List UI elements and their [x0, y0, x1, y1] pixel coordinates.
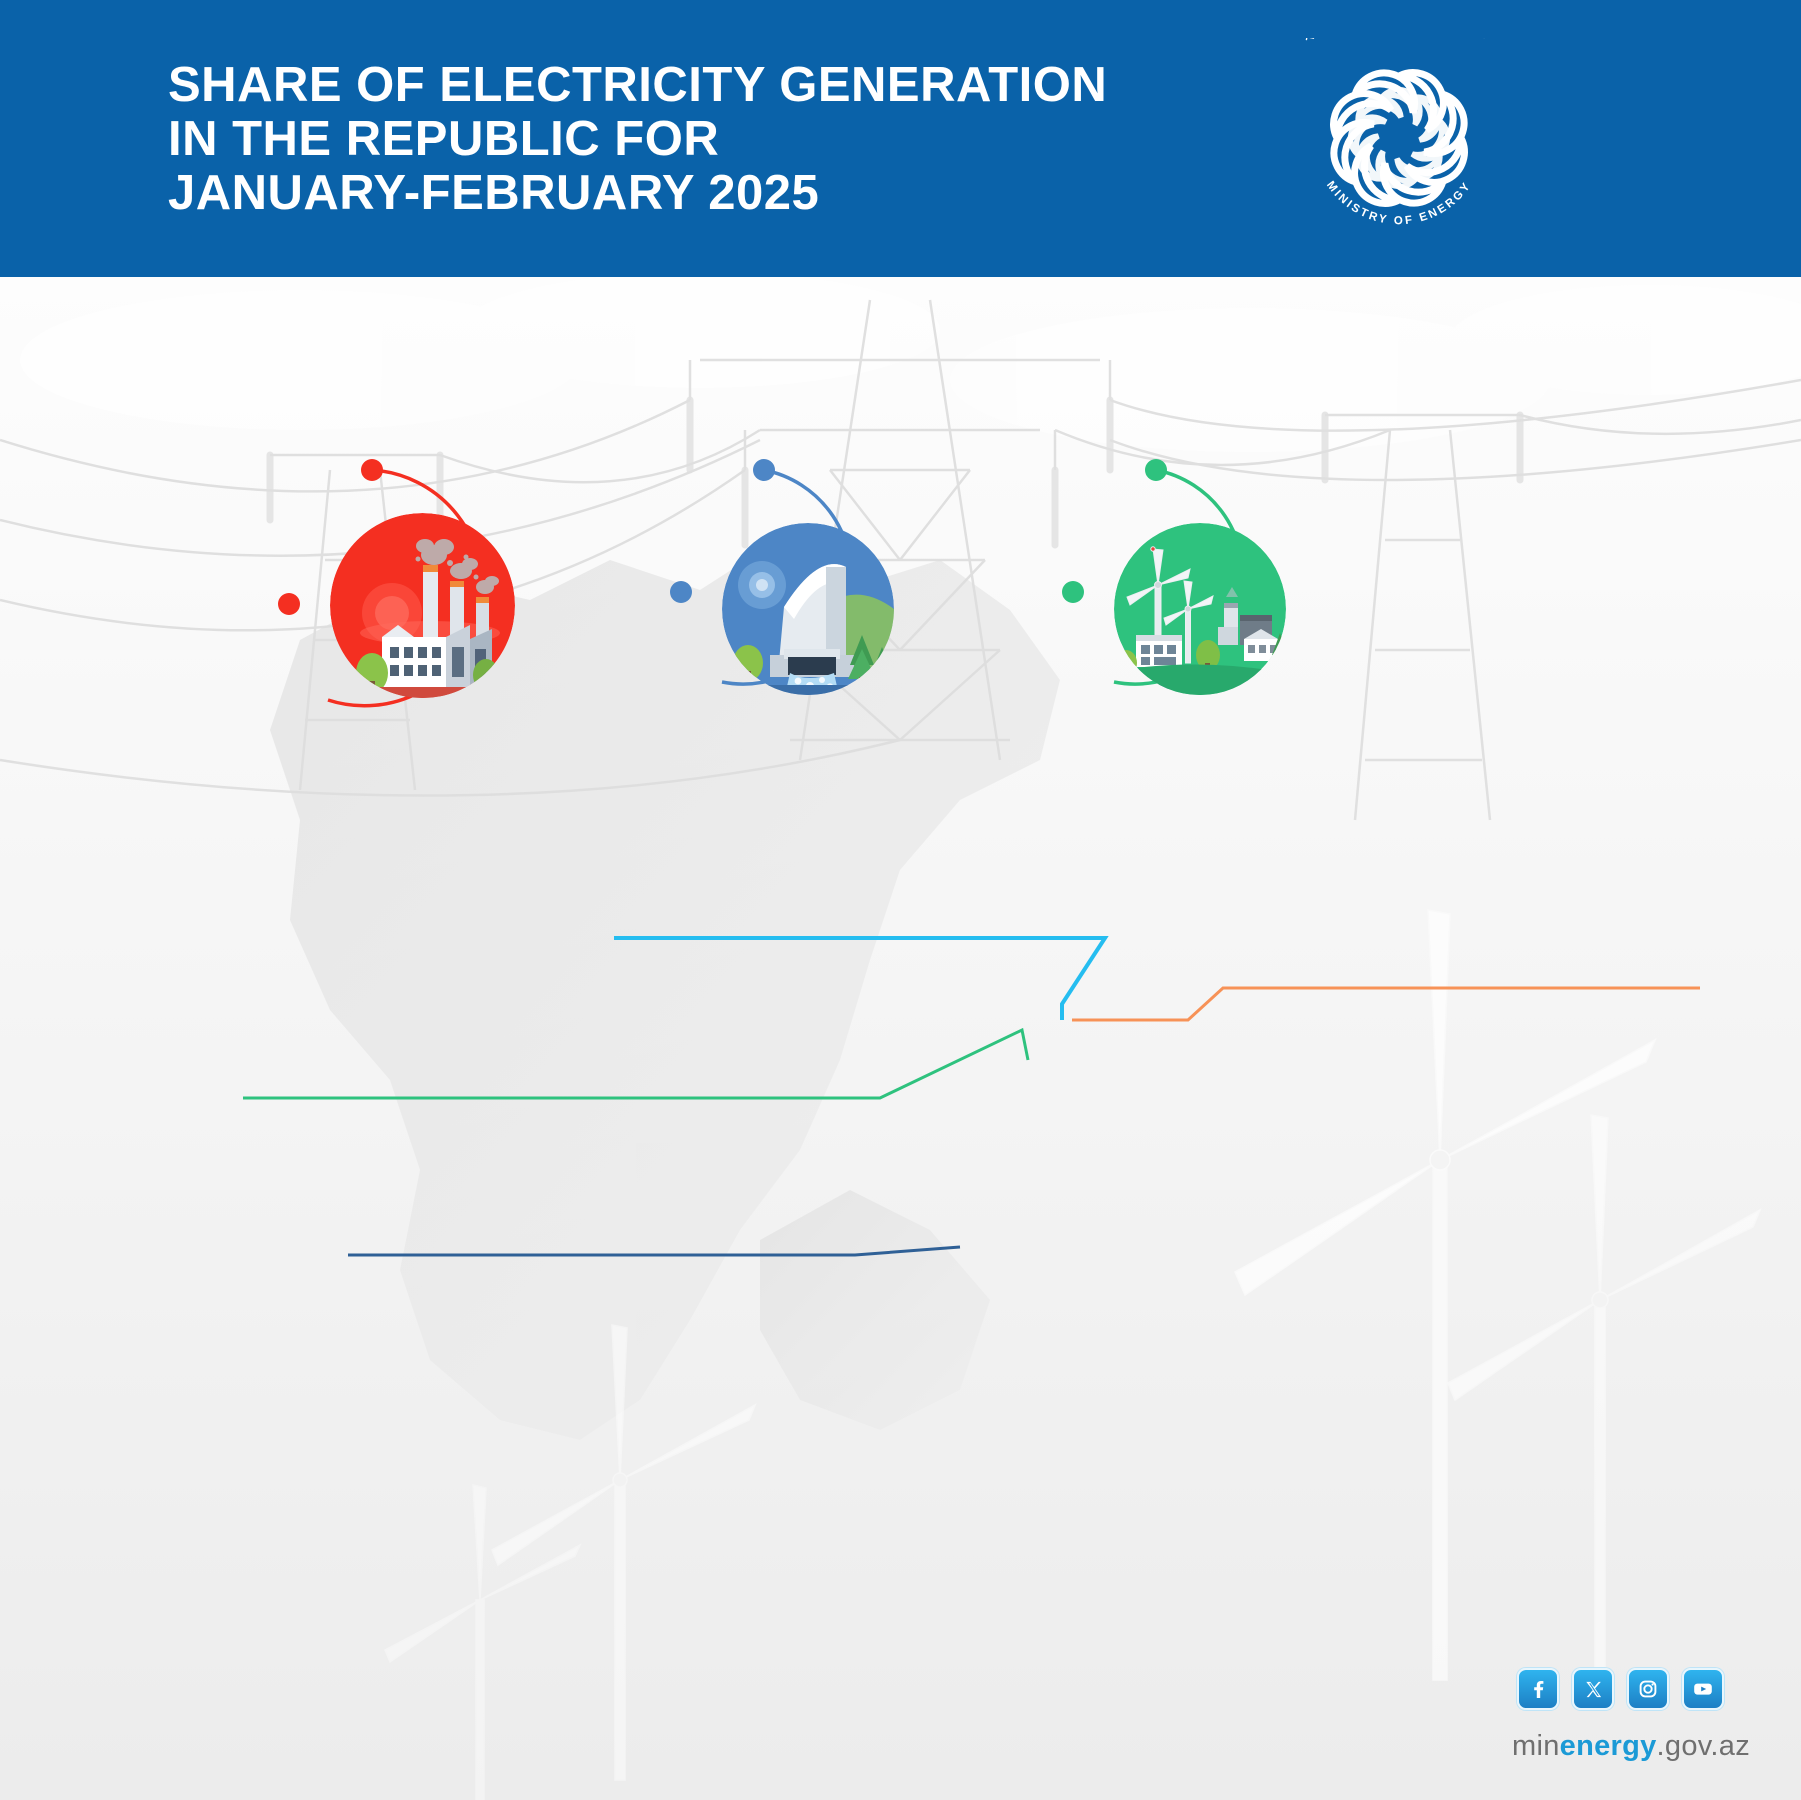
- header-banner: SHARE OF ELECTRICITY GENERATION IN THE R…: [0, 0, 1801, 277]
- logo-outer-text-top: THE REPUBLIC OF AZERBAIJAN: [1305, 38, 1494, 42]
- ministry-of-energy-logo: THE REPUBLIC OF AZERBAIJAN MINISTRY OF E…: [1274, 38, 1524, 238]
- youtube-icon: [1692, 1678, 1714, 1700]
- svg-text:THE REPUBLIC OF AZERBAIJAN: THE REPUBLIC OF AZERBAIJAN: [1305, 38, 1494, 42]
- renewable-sources-icon: [1114, 523, 1286, 695]
- page-title: SHARE OF ELECTRICITY GENERATION IN THE R…: [168, 58, 1107, 220]
- social-links[interactable]: [1517, 1668, 1724, 1710]
- url-prefix: min: [1512, 1730, 1560, 1762]
- facebook-link[interactable]: [1517, 1668, 1559, 1710]
- thermal-power-plant-icon: [330, 513, 515, 698]
- url-accent: energy: [1560, 1730, 1657, 1762]
- other-sources-illustration-circle: [1114, 523, 1286, 695]
- instagram-icon: [1638, 1679, 1658, 1699]
- hydro-power-plant-icon: [722, 523, 894, 695]
- site-url[interactable]: minenergy.gov.az: [1512, 1730, 1750, 1763]
- hpps-illustration-circle: [722, 523, 894, 695]
- x-twitter-icon: [1584, 1680, 1603, 1699]
- url-suffix: .gov.az: [1657, 1730, 1750, 1762]
- tpps-illustration-circle: [330, 513, 515, 698]
- facebook-icon: [1528, 1679, 1548, 1699]
- x-twitter-link[interactable]: [1572, 1668, 1614, 1710]
- instagram-link[interactable]: [1627, 1668, 1669, 1710]
- youtube-link[interactable]: [1682, 1668, 1724, 1710]
